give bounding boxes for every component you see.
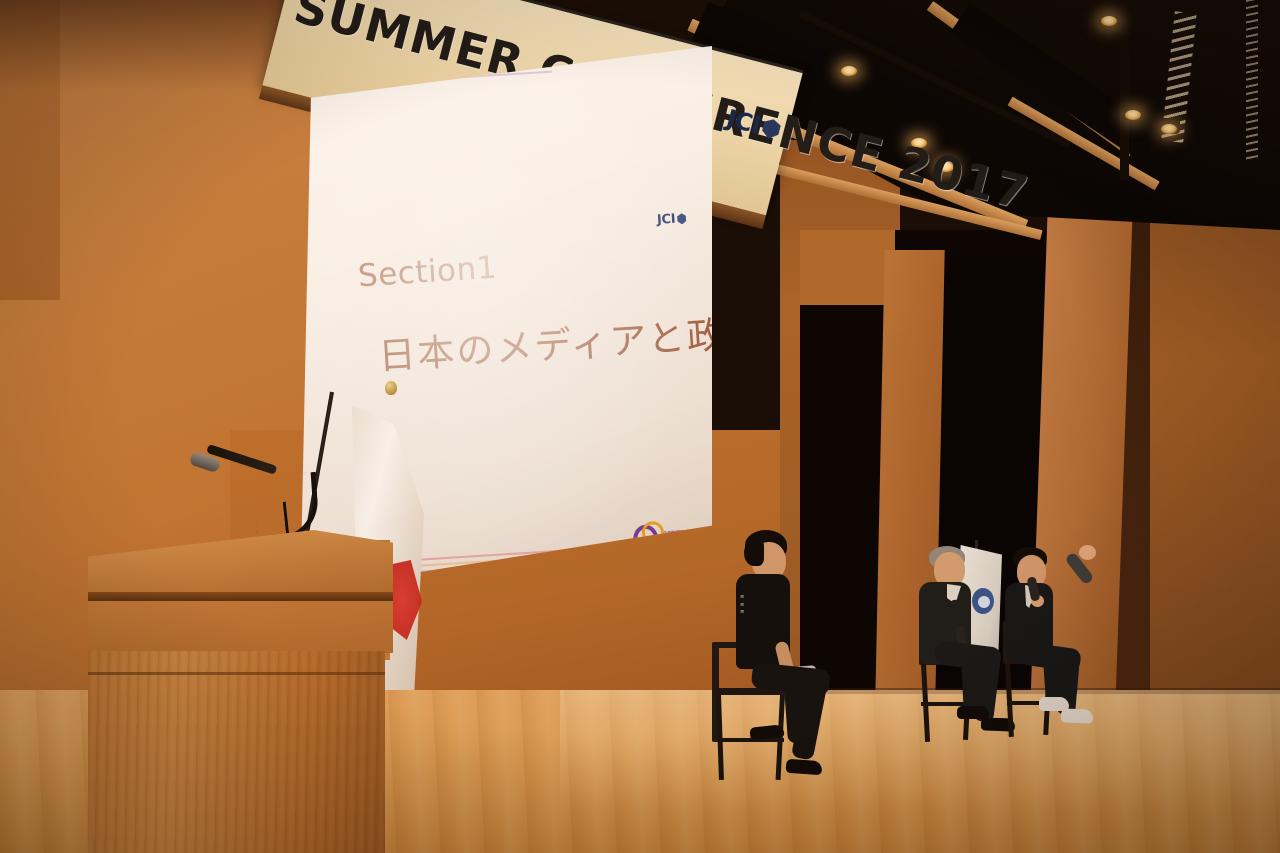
spotlight-6: [1161, 124, 1177, 134]
summer-conference-mark-icon: [632, 521, 660, 549]
lectern-wood-grain: [88, 651, 385, 853]
spotlight-4: [1101, 16, 1117, 26]
stripe: [253, 71, 553, 91]
japan-flag-finial: [385, 381, 397, 395]
panelist-right: [995, 545, 1125, 775]
stripe: [251, 51, 551, 71]
lectern-top-edge: [88, 592, 393, 601]
wooden-lectern: [88, 651, 385, 853]
backdrop-upper-notch: [800, 230, 895, 305]
slide-jci-logo: JCI: [656, 211, 686, 228]
lectern-seam: [88, 672, 385, 675]
summer-conference-logo: SUMMER: [632, 519, 685, 548]
slide-title: 日本のメディアと政治: [377, 302, 766, 380]
jci-crest-icon: [677, 213, 687, 225]
shin-back: [784, 684, 808, 743]
spotlight-5: [1125, 110, 1141, 120]
panelist-left: ≡≡≡: [700, 520, 880, 810]
slide-section-label: Section1: [357, 250, 498, 295]
hair-back: [744, 540, 764, 566]
summer-conference-logo-text: SUMMER: [662, 529, 685, 537]
stool-leg: [1005, 663, 1014, 737]
slide-jci-text: JCI: [656, 212, 675, 228]
raised-hand: [1079, 545, 1096, 560]
spotlight-1: [841, 66, 857, 76]
slide-stripes-top: [251, 45, 553, 104]
stripe: [252, 56, 552, 76]
shirt-sleeve-text: ≡≡≡: [740, 594, 745, 617]
stripe: [252, 66, 552, 86]
lectern-upper-band: [88, 601, 393, 653]
auditorium-stage-photo: SUMMER CONFERENCE 2017 JCI: [0, 0, 1280, 853]
lighting-rig-coil-right: [1246, 0, 1258, 160]
shoe: [786, 759, 823, 775]
stripe: [252, 61, 552, 81]
shoe-white: [1061, 708, 1093, 723]
lighting-truss-2: [1120, 0, 1129, 180]
